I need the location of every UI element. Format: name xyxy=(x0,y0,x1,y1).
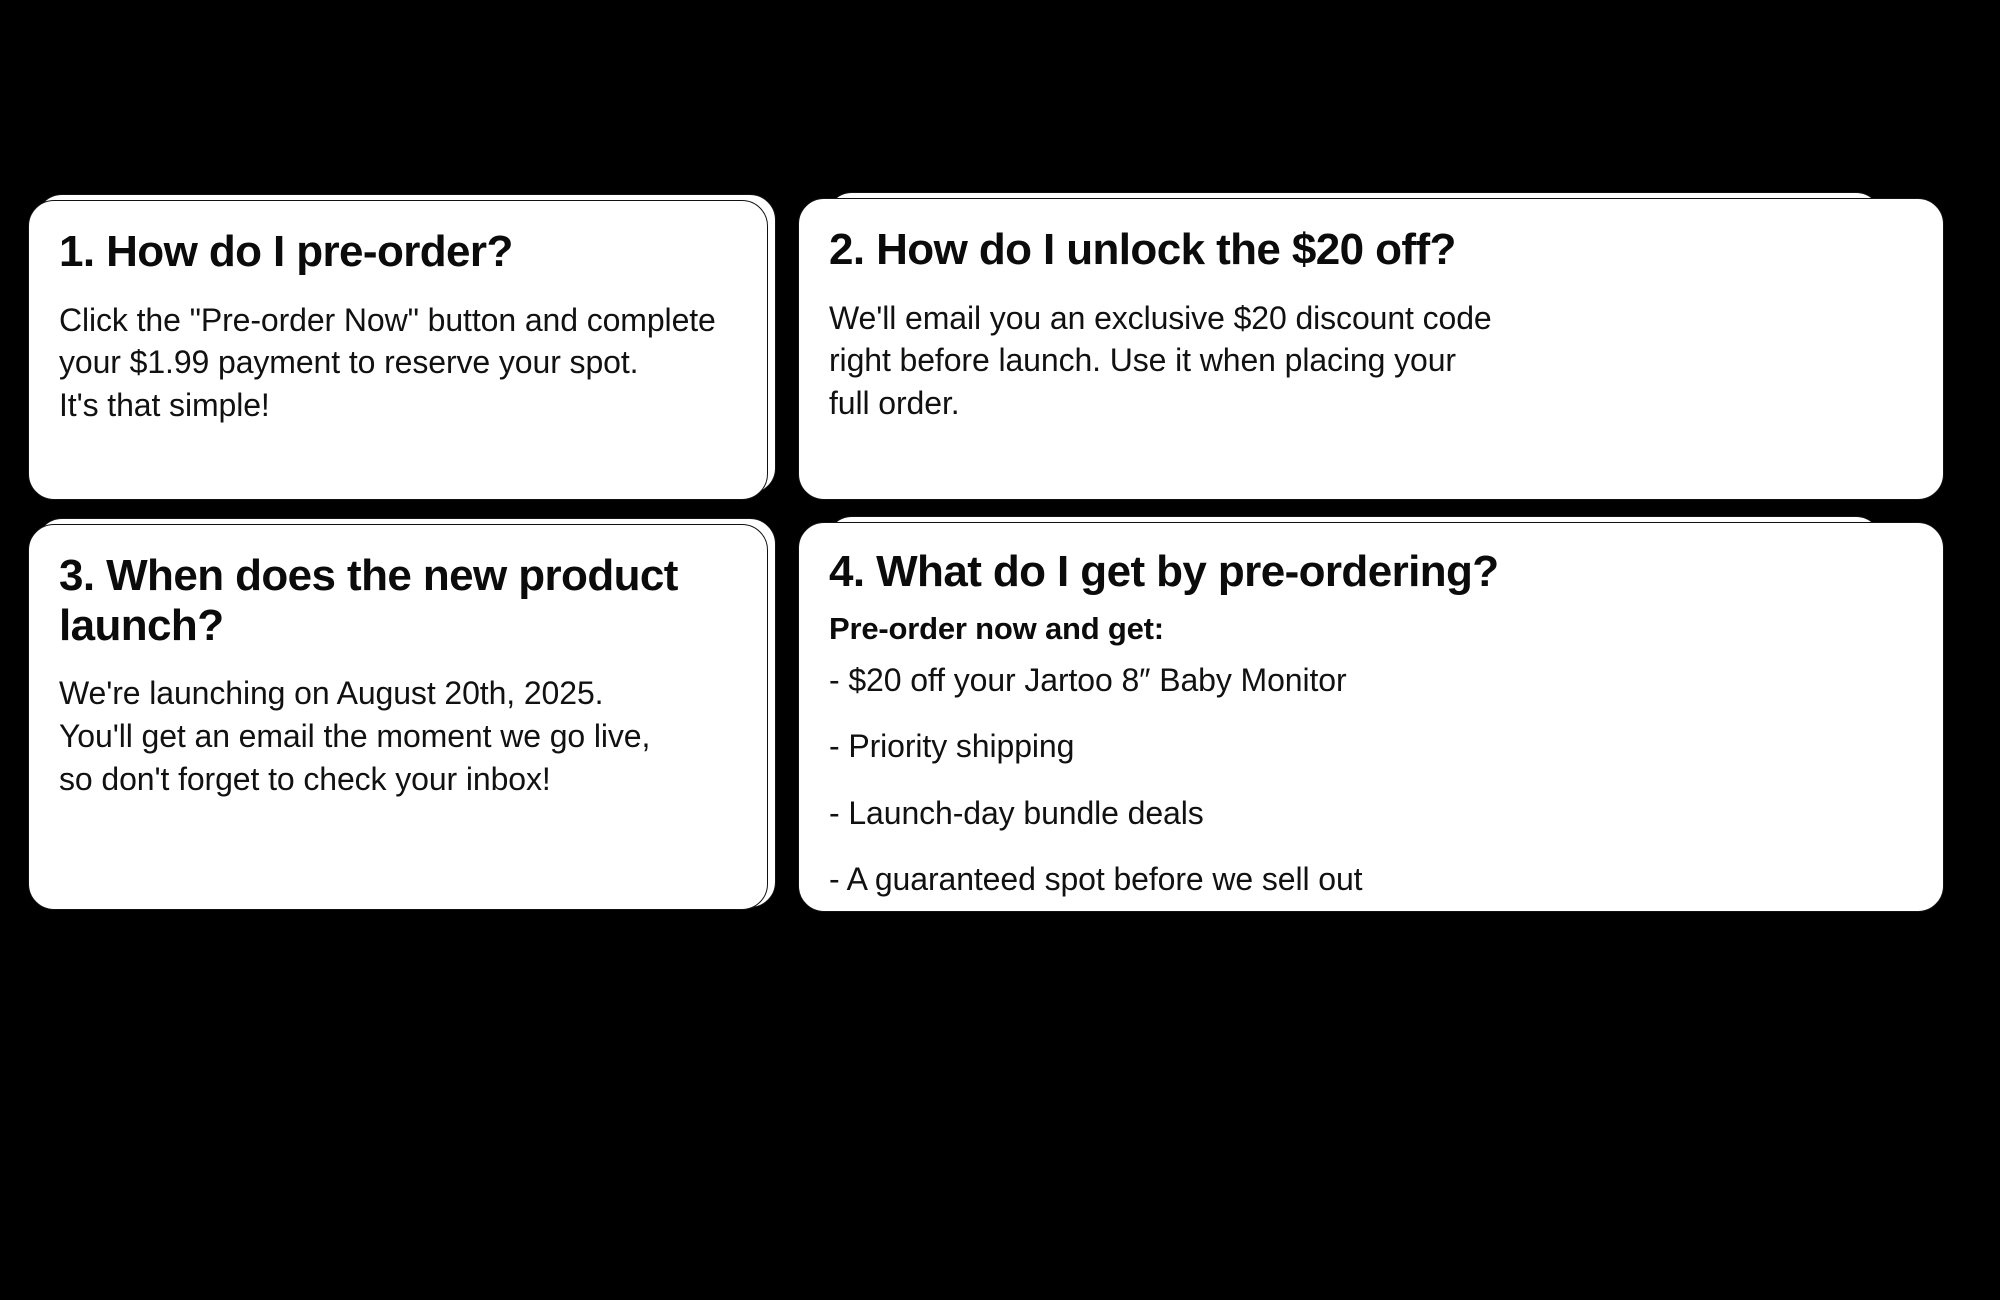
faq-card-4-content: 4. What do I get by pre-ordering? Pre-or… xyxy=(829,547,1917,891)
faq-card-what-do-i-get-by-preordering[interactable]: 4. What do I get by pre-ordering? Pre-or… xyxy=(798,522,1944,912)
list-item: - $20 off your Jartoo 8″ Baby Monitor xyxy=(829,661,1917,699)
faq-card-how-do-i-unlock-discount[interactable]: 2. How do I unlock the $20 off? We'll em… xyxy=(798,198,1944,500)
faq-card-when-does-product-launch[interactable]: 3. When does the new product launch? We'… xyxy=(28,524,768,910)
list-item: - A guaranteed spot before we sell out xyxy=(829,860,1917,898)
faq-card-2-body: We'll email you an exclusive $20 discoun… xyxy=(829,297,1917,425)
list-item: - Priority shipping xyxy=(829,727,1917,765)
faq-card-3-title: 3. When does the new product launch? xyxy=(59,551,741,650)
faq-card-3-body: We're launching on August 20th, 2025. Yo… xyxy=(59,672,741,800)
faq-card-2-content: 2. How do I unlock the $20 off? We'll em… xyxy=(829,225,1917,479)
faq-card-2-title: 2. How do I unlock the $20 off? xyxy=(829,225,1917,275)
faq-card-4-benefit-list: - $20 off your Jartoo 8″ Baby Monitor - … xyxy=(829,661,1917,899)
faq-card-1-body: Click the "Pre-order Now" button and com… xyxy=(59,299,741,427)
faq-card-how-do-i-pre-order[interactable]: 1. How do I pre-order? Click the "Pre-or… xyxy=(28,200,768,500)
faq-card-3-content: 3. When does the new product launch? We'… xyxy=(59,551,741,889)
faq-board: 1. How do I pre-order? Click the "Pre-or… xyxy=(0,0,2000,1300)
list-item: - Launch-day bundle deals xyxy=(829,794,1917,832)
faq-card-4-title: 4. What do I get by pre-ordering? xyxy=(829,547,1917,597)
faq-card-4-subtitle: Pre-order now and get: xyxy=(829,611,1917,647)
faq-card-1-content: 1. How do I pre-order? Click the "Pre-or… xyxy=(59,227,741,479)
faq-card-1-title: 1. How do I pre-order? xyxy=(59,227,741,277)
